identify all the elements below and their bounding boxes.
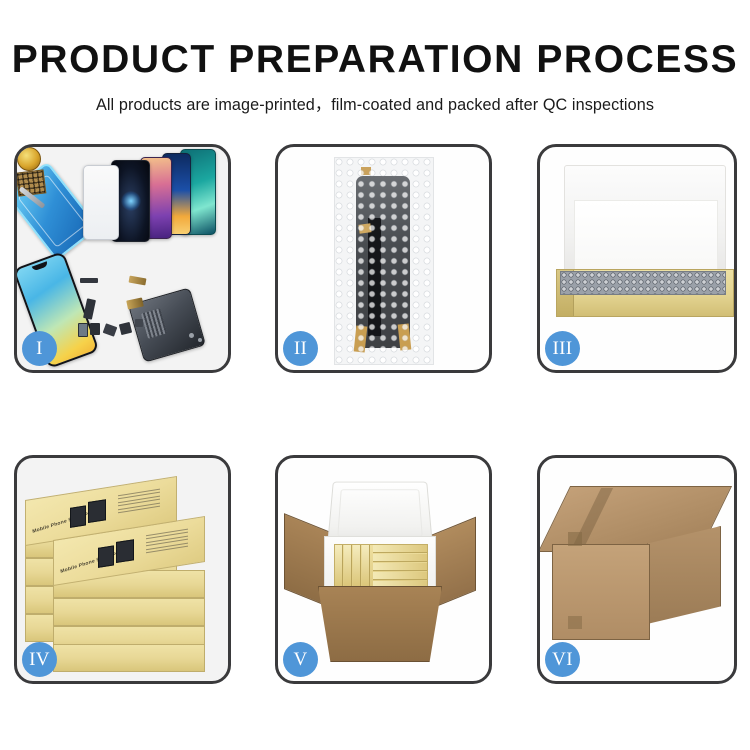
foam-lid-graphic — [564, 165, 726, 285]
tape-piece — [361, 167, 371, 175]
flex-cable-part — [119, 322, 132, 335]
process-step-panel-3[interactable]: III — [537, 144, 737, 373]
box-stack-graphic: Mobile Phone Spare Parts Mobile Phone Sp… — [23, 474, 223, 670]
box-window-thumb — [88, 499, 106, 523]
process-step-grid: I II III — [14, 144, 737, 674]
process-step-panel-4[interactable]: Mobile Phone Spare Parts Mobile Phone Sp… — [14, 455, 231, 684]
page-title: PRODUCT PREPARATION PROCESS — [0, 0, 750, 80]
step-badge-5: V — [283, 642, 318, 677]
process-step-panel-1[interactable]: I — [14, 144, 231, 373]
screw-part — [189, 333, 194, 338]
step-badge-1: I — [22, 331, 57, 366]
step-badge-6: VI — [545, 642, 580, 677]
page-header: PRODUCT PREPARATION PROCESS All products… — [0, 0, 750, 115]
box-window-thumb — [98, 545, 114, 568]
page-subtitle: All products are image-printed，film-coat… — [0, 80, 750, 115]
camera-module-part — [78, 323, 88, 337]
carton-tape-mark — [568, 532, 582, 546]
screen-assembly-graphic — [356, 176, 410, 348]
box-spec-lines — [146, 529, 188, 556]
flex-cable-part — [90, 323, 100, 335]
process-step-panel-2[interactable]: II — [275, 144, 492, 373]
carton-front-face — [552, 544, 650, 640]
bubble-wrap-sleeve — [334, 157, 434, 365]
box-window-thumb — [116, 539, 134, 563]
step-badge-4: IV — [22, 642, 57, 677]
bubble-wrapped-contents — [560, 271, 726, 295]
process-step-panel-5[interactable]: V — [275, 455, 492, 684]
packed-boxes-group — [334, 544, 428, 590]
carton-body — [318, 586, 442, 662]
tape-piece — [354, 325, 368, 352]
screw-part — [198, 338, 202, 342]
flex-cable-part — [103, 323, 118, 337]
stacked-box — [53, 644, 205, 672]
stacked-box — [53, 598, 205, 626]
step-badge-2: II — [283, 331, 318, 366]
screen-flex-strip — [368, 218, 381, 336]
carton-tape-mark — [568, 616, 582, 629]
box-window-thumb — [70, 505, 86, 528]
box-spec-lines — [118, 489, 160, 516]
flex-cable-part — [129, 276, 147, 286]
tape-piece — [358, 223, 371, 234]
flex-cable-part — [80, 278, 98, 283]
step-badge-3: III — [545, 331, 580, 366]
flex-cable-part — [135, 319, 143, 327]
process-step-panel-6[interactable]: VI — [537, 455, 737, 684]
flex-cable-part — [83, 298, 96, 319]
tempered-glass-graphic — [83, 165, 119, 240]
